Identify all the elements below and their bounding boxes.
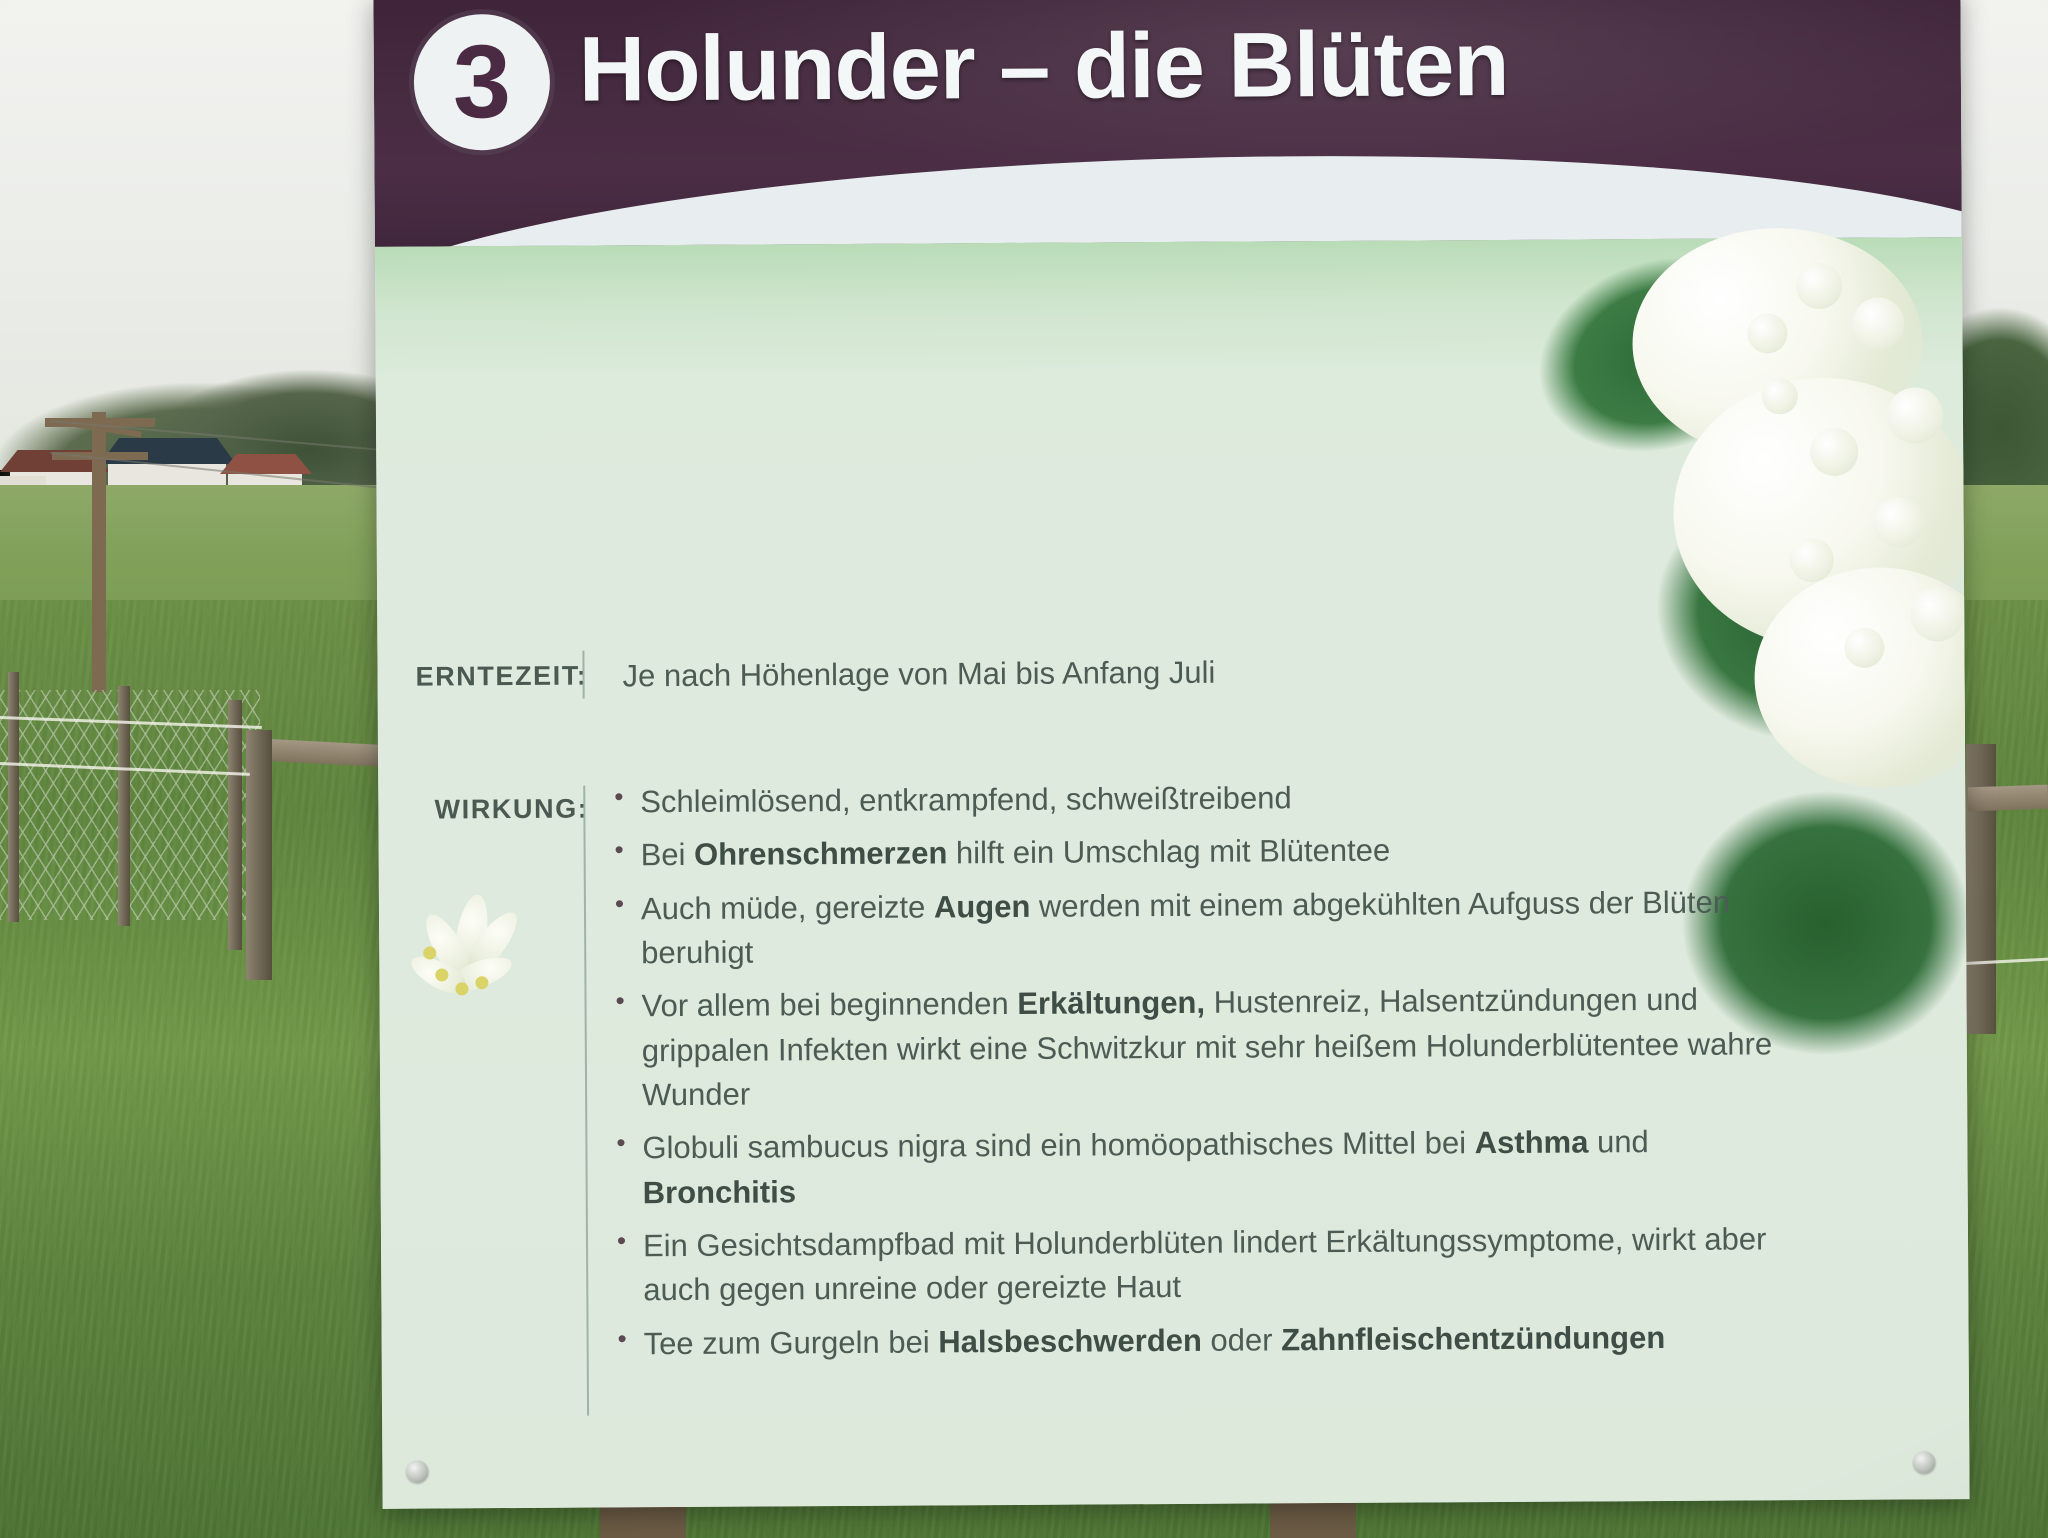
floret-icon bbox=[1844, 628, 1884, 668]
information-sign-panel: 3 Holunder – die Blüten bbox=[373, 0, 1969, 1509]
fence-post bbox=[8, 672, 19, 922]
section-divider bbox=[583, 786, 589, 1416]
page-title: Holunder – die Blüten bbox=[579, 12, 1509, 123]
list-item: Tee zum Gurgeln bei Halsbeschwerden oder… bbox=[609, 1315, 1789, 1367]
floret-icon bbox=[1887, 387, 1943, 443]
utility-pole bbox=[92, 412, 106, 692]
list-item: Ein Gesichtsdampfbad mit Holunderblüten … bbox=[609, 1217, 1790, 1313]
sign-support-post bbox=[1270, 1500, 1356, 1538]
stamen bbox=[455, 982, 468, 995]
floret-icon bbox=[1910, 587, 1964, 641]
list-item: Globuli sambucus nigra sind ein homöopat… bbox=[608, 1120, 1789, 1216]
list-item: Schleimlösend, entkrampfend, schweißtrei… bbox=[606, 773, 1786, 825]
single-elderflower-icon bbox=[409, 886, 570, 1027]
stamen bbox=[423, 946, 436, 959]
wirkung-bullet-list: Schleimlösend, entkrampfend, schweißtrei… bbox=[606, 773, 1790, 1375]
station-number-badge: 3 bbox=[414, 14, 551, 151]
section-label-wirkung: WIRKUNG: bbox=[373, 794, 588, 827]
erntezeit-value: Je nach Höhenlage von Mai bis Anfang Jul… bbox=[622, 655, 1215, 695]
stamen bbox=[475, 976, 488, 989]
section-divider bbox=[582, 651, 584, 699]
sign-body: ERNTEZEIT: Je nach Höhenlage von Mai bis… bbox=[375, 237, 1970, 1509]
list-item: Bei Ohrenschmerzen hilft ein Umschlag mi… bbox=[607, 827, 1787, 879]
mounting-screw bbox=[406, 1461, 428, 1483]
floret-icon bbox=[1762, 378, 1798, 414]
stamen bbox=[435, 968, 448, 981]
photo-scene: 3 Holunder – die Blüten bbox=[0, 0, 2048, 1538]
floret-icon bbox=[1796, 263, 1842, 309]
floret-icon bbox=[1747, 313, 1787, 353]
floret-icon bbox=[1873, 497, 1923, 547]
floret-icon bbox=[1810, 428, 1858, 476]
floret-icon bbox=[1790, 538, 1834, 582]
list-item: Vor allem bei beginnenden Erkältungen, H… bbox=[607, 978, 1788, 1118]
mounting-screw bbox=[1913, 1451, 1935, 1473]
wooden-rail bbox=[1968, 785, 2048, 812]
list-item: Auch müde, gereizte Augen werden mit ein… bbox=[607, 880, 1788, 976]
section-label-erntezeit: ERNTEZEIT: bbox=[373, 661, 587, 694]
fence-post bbox=[246, 730, 272, 980]
station-number: 3 bbox=[453, 30, 511, 134]
fence-post bbox=[228, 700, 242, 950]
floret-icon bbox=[1852, 298, 1904, 350]
